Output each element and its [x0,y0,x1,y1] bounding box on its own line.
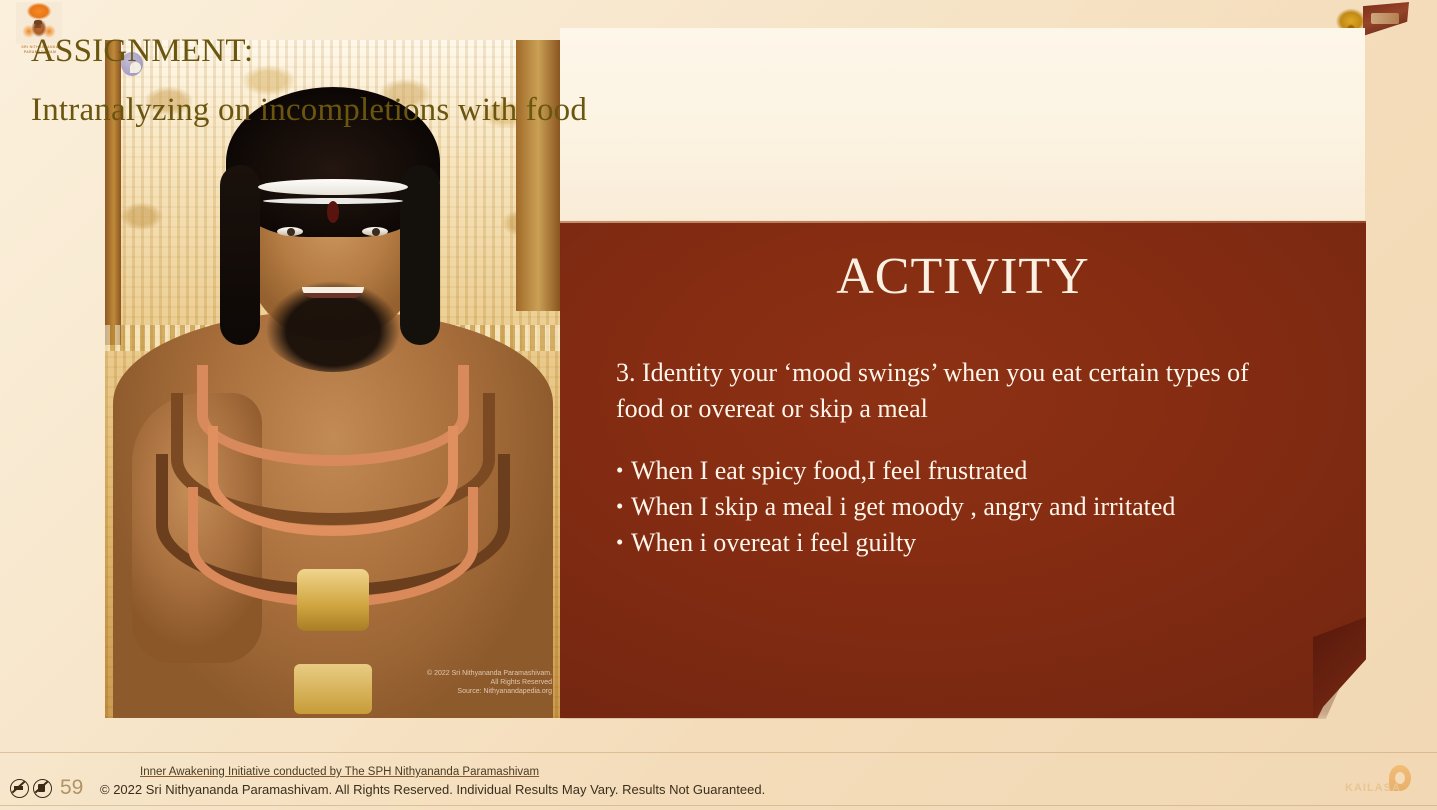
list-item: When I skip a meal i get moody , angry a… [616,489,1276,525]
bottom-right-kailasa-logo: KAILASA [1345,765,1431,803]
footer-divider-top [0,752,1437,753]
guru-portrait-photo: © 2022 Sri Nithyananda Paramashivam. All… [105,40,560,718]
page-subtitle: Intranalyzing on incompletions with food [31,92,587,129]
no-alcohol-icon [33,779,52,798]
footer-copyright-text: © 2022 Sri Nithyananda Paramashivam. All… [100,782,765,797]
activity-answer-list: When I eat spicy food,I feel frustrated … [616,453,1276,561]
list-item: When i overeat i feel guilty [616,525,1276,561]
throne-pillar-right [516,40,560,311]
figure-beard [258,264,408,372]
gold-pendant-upper [297,569,369,631]
activity-content: 3. Identity your ‘mood swings’ when you … [616,355,1276,561]
photo-credit-text: © 2022 Sri Nithyananda Paramashivam. All… [427,669,552,696]
presentation-slide: SRI NITHYANANDA PARAMASHIVAM © 2022 Sri … [0,0,1437,810]
activity-panel-top-highlight [560,221,1366,223]
vibhuti-tilak-icon [258,179,408,195]
throne-pillar-left [105,40,121,345]
no-smoking-icon [10,779,29,798]
figure-eye-left [277,227,303,236]
flag-icon [1363,2,1409,36]
page-number: 59 [60,776,83,800]
kailasa-logo-text: KAILASA [1345,782,1401,794]
footer-initiative-text: Inner Awakening Initiative conducted by … [140,766,539,778]
bindi-icon [327,201,339,223]
footer-divider-bottom [0,805,1437,806]
gold-pendant-lower [294,664,372,714]
list-item: When I eat spicy food,I feel frustrated [616,453,1276,489]
figure-smile [302,287,364,298]
page-title: ASSIGNMENT: [31,33,253,70]
footer-restriction-icons [10,779,52,798]
activity-question: 3. Identity your ‘mood swings’ when you … [616,355,1276,427]
activity-heading: ACTIVITY [560,247,1366,306]
slide-title-band [560,28,1365,220]
